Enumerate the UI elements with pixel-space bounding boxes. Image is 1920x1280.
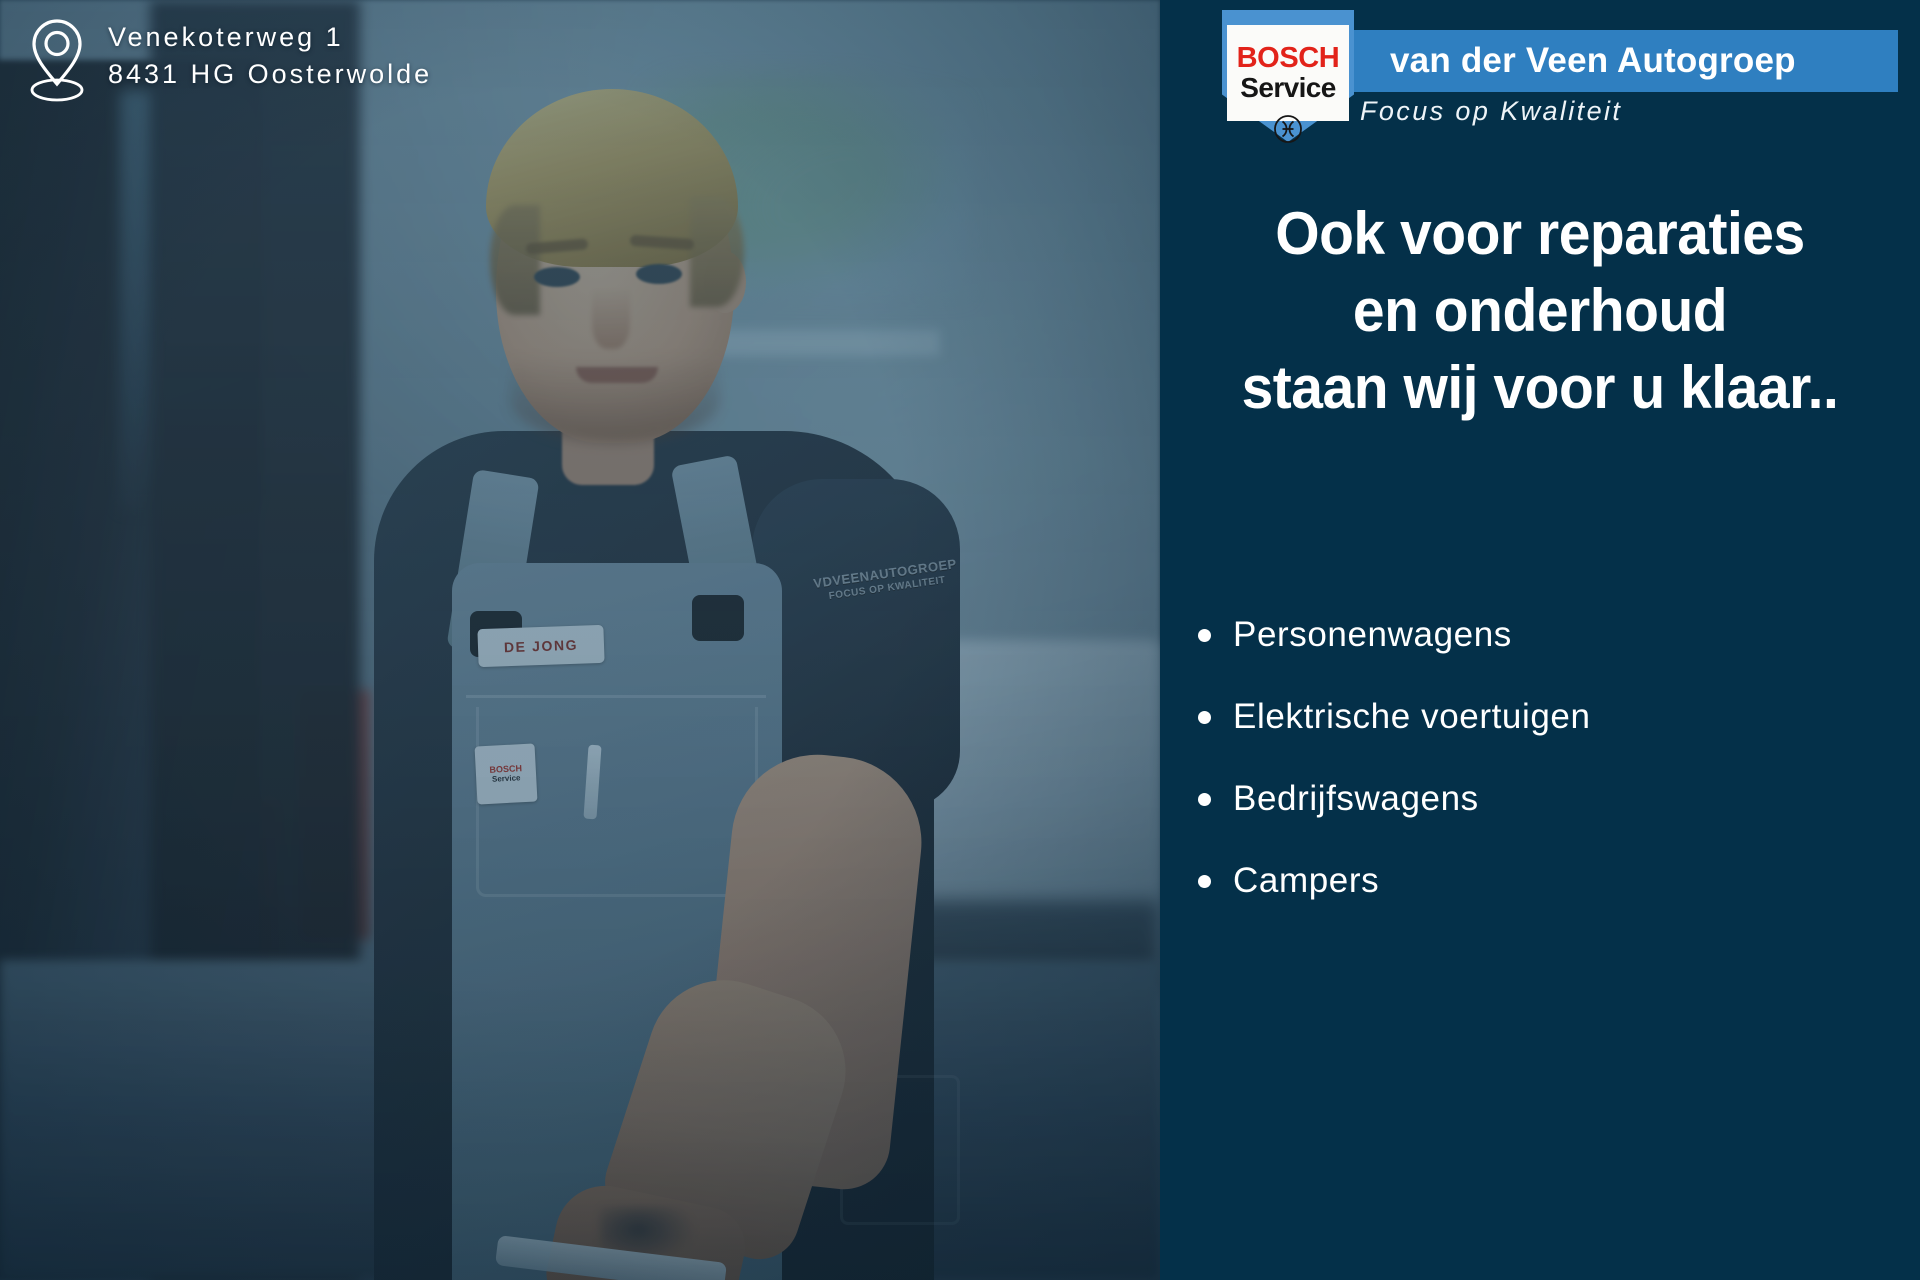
service-label: Bedrijfswagens	[1233, 779, 1479, 819]
garage-scene: VDVEENAUTOGROEP FOCUS OP KWALITEIT	[0, 0, 1160, 1280]
brand-name: van der Veen Autogroep	[1390, 30, 1796, 92]
headline-line-2: en onderhoud	[1206, 273, 1875, 350]
shield-bosch-wordmark: BOSCH	[1237, 44, 1340, 73]
bosch-armature-icon	[1273, 114, 1303, 144]
list-item: Elektrische voertuigen	[1198, 697, 1920, 737]
photo-vignette	[0, 0, 1160, 1280]
address-line-2: 8431 HG Oosterwolde	[108, 59, 432, 90]
service-label: Elektrische voertuigen	[1233, 697, 1591, 737]
advertisement-banner: VDVEENAUTOGROEP FOCUS OP KWALITEIT	[0, 0, 1920, 1280]
address-block: Venekoterweg 1 8431 HG Oosterwolde	[28, 14, 432, 104]
service-label: Personenwagens	[1233, 615, 1512, 655]
bullet-dot-icon	[1198, 875, 1211, 888]
bullet-dot-icon	[1198, 711, 1211, 724]
list-item: Personenwagens	[1198, 615, 1920, 655]
address-line-1: Venekoterweg 1	[108, 22, 432, 53]
bullet-dot-icon	[1198, 629, 1211, 642]
services-list: Personenwagens Elektrische voertuigen Be…	[1160, 615, 1920, 901]
service-label: Campers	[1233, 861, 1379, 901]
bullet-dot-icon	[1198, 793, 1211, 806]
shield-label: BOSCH Service	[1227, 25, 1349, 121]
headline-line-3: staan wij voor u klaar..	[1206, 350, 1875, 427]
shield-service-wordmark: Service	[1240, 73, 1335, 102]
list-item: Campers	[1198, 861, 1920, 901]
brand-tagline: Focus op Kwaliteit	[1360, 96, 1622, 127]
info-panel: BOSCH Service van der Veen Autogroep Foc…	[1160, 0, 1920, 1280]
address-lines: Venekoterweg 1 8431 HG Oosterwolde	[108, 14, 432, 90]
brand-header: BOSCH Service van der Veen Autogroep Foc…	[1160, 0, 1920, 152]
bosch-service-shield-icon: BOSCH Service	[1222, 10, 1354, 142]
location-pin-icon	[28, 18, 86, 104]
list-item: Bedrijfswagens	[1198, 779, 1920, 819]
mechanic-photo-panel: VDVEENAUTOGROEP FOCUS OP KWALITEIT	[0, 0, 1160, 1280]
headline-block: Ook voor reparaties en onderhoud staan w…	[1160, 196, 1920, 426]
headline-line-1: Ook voor reparaties	[1206, 196, 1875, 273]
